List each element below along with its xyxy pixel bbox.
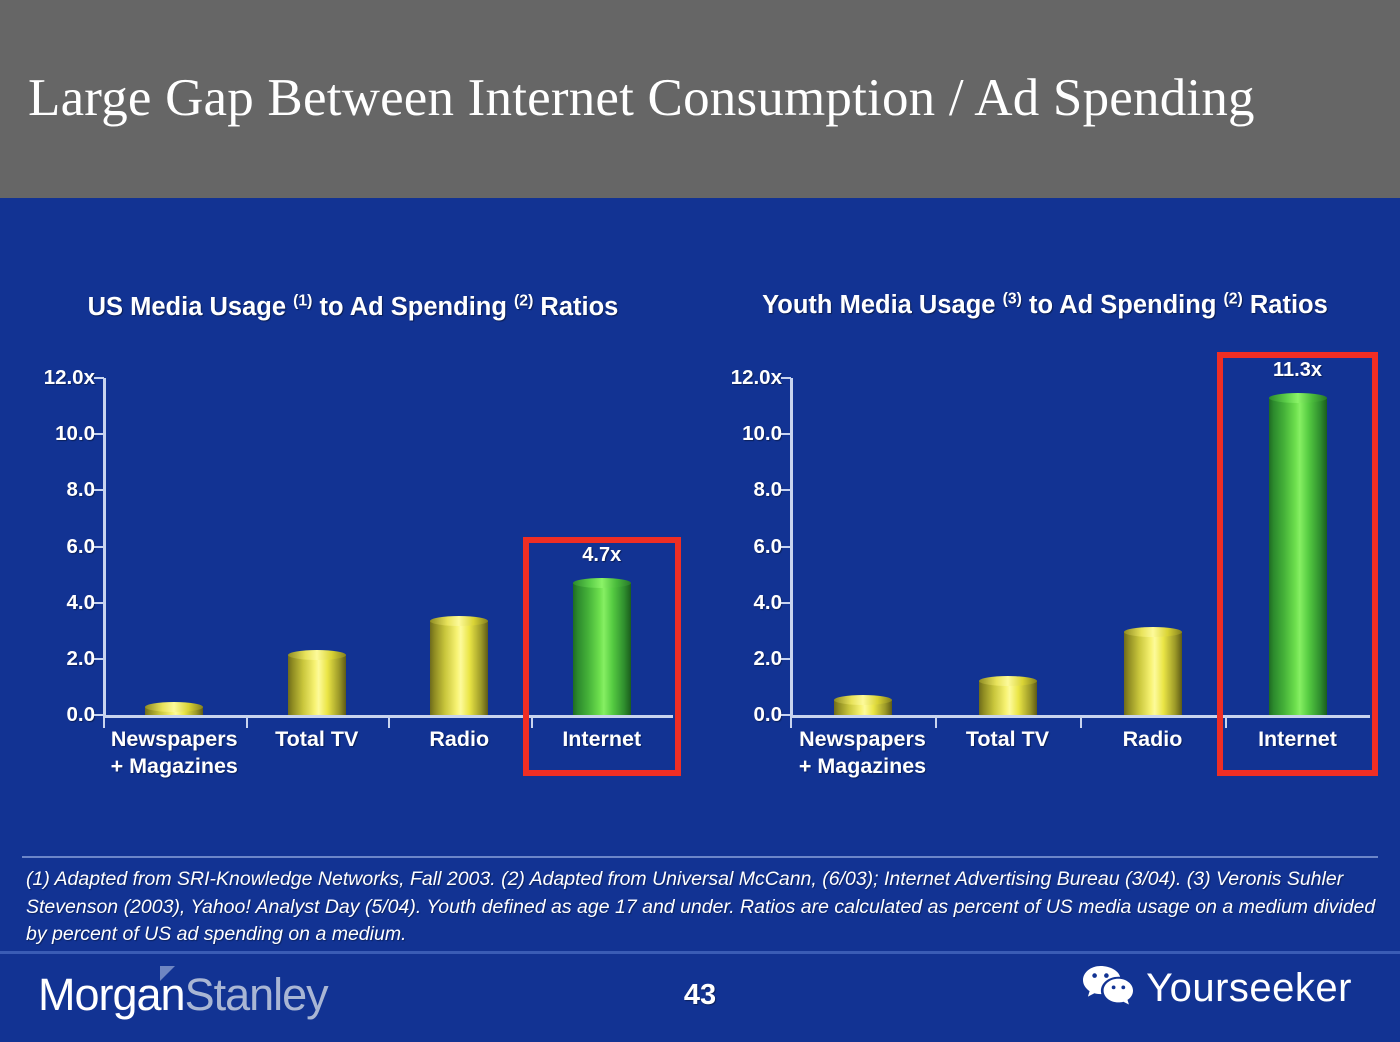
x-axis-category-labels: Newspapers + MagazinesTotal TVRadioInter…: [103, 726, 673, 806]
x-axis-label-3: Radio: [1080, 726, 1225, 753]
bar-slot: [288, 378, 346, 715]
plot-area-us-media: 12.0x10.08.06.04.02.00.0 4.7x: [103, 378, 673, 718]
chart-title-segment-b: to Ad Spending: [312, 293, 514, 321]
chart-title-footnote-ref-1: (1): [293, 293, 312, 310]
y-axis-tick-label: 6.0: [15, 535, 95, 559]
x-axis-label-1: Newspapers + Magazines: [103, 726, 246, 780]
chart-title-segment-a: Youth Media Usage: [762, 291, 1002, 319]
bar-cap: [430, 616, 488, 626]
bar-body: [1269, 398, 1327, 715]
bar-cap: [834, 695, 892, 705]
chart-title-us-media: US Media Usage (1) to Ad Spending (2) Ra…: [8, 290, 698, 324]
bar-cap: [1269, 393, 1327, 403]
bar-1: [834, 700, 892, 715]
footnote-divider: [22, 856, 1378, 858]
y-axis-tick-label: 2.0: [15, 647, 95, 671]
brand-watermark: Yourseeker: [1082, 964, 1352, 1011]
y-axis-tick-label: 8.0: [702, 478, 782, 502]
chart-title-footnote-ref-3: (3): [1003, 291, 1022, 308]
bar-body: [1124, 632, 1182, 715]
bar-value-label: 11.3x: [1239, 359, 1357, 382]
bar-slot: [145, 378, 203, 715]
bar-slot: [1124, 378, 1182, 715]
chart-title-segment-b: to Ad Spending: [1022, 291, 1224, 319]
chart-title-youth-media: Youth Media Usage (3) to Ad Spending (2)…: [700, 288, 1390, 322]
y-axis-tick-label: 10.0: [15, 422, 95, 446]
bar-slot: 11.3x: [1269, 378, 1327, 715]
plot-area-youth-media: 12.0x10.08.06.04.02.00.0 11.3x: [790, 378, 1370, 718]
footnotes: (1) Adapted from SRI-Knowledge Networks,…: [26, 866, 1378, 949]
y-axis-tick-label: 4.0: [702, 591, 782, 615]
bar-series: 11.3x: [790, 378, 1370, 715]
x-axis-label-2: Total TV: [246, 726, 389, 753]
chart-title-footnote-ref-2: (2): [1223, 291, 1242, 308]
bar-body: [288, 655, 346, 715]
bar-slot: [430, 378, 488, 715]
wechat-icon: [1082, 964, 1134, 1011]
chart-panel-us-media: US Media Usage (1) to Ad Spending (2) Ra…: [8, 198, 698, 850]
x-axis-label-3: Radio: [388, 726, 531, 753]
y-axis-tick-label: 12.0x: [15, 366, 95, 390]
bar-body: [573, 583, 631, 715]
bar-cap: [145, 702, 203, 712]
chart-title-segment-a: US Media Usage: [88, 293, 293, 321]
brand-name: Yourseeker: [1146, 968, 1352, 1008]
bar-slot: 4.7x: [573, 378, 631, 715]
chart-title-footnote-ref-2: (2): [514, 293, 533, 310]
x-axis-label-2: Total TV: [935, 726, 1080, 753]
bar-3: [430, 621, 488, 715]
bar-series: 4.7x: [103, 378, 673, 715]
bar-4: [1269, 398, 1327, 715]
y-axis-tick-label: 12.0x: [702, 366, 782, 390]
bar-cap: [288, 650, 346, 660]
y-axis-tick-label: 2.0: [702, 647, 782, 671]
chart-title-segment-c: Ratios: [533, 293, 618, 321]
bar-3: [1124, 632, 1182, 715]
chart-title-segment-c: Ratios: [1243, 291, 1328, 319]
y-axis-tick-label: 0.0: [702, 703, 782, 727]
bar-1: [145, 707, 203, 715]
bar-slot: [979, 378, 1037, 715]
y-axis-tick-label: 6.0: [702, 535, 782, 559]
slide-body: US Media Usage (1) to Ad Spending (2) Ra…: [0, 198, 1400, 850]
x-axis-label-1: Newspapers + Magazines: [790, 726, 935, 780]
slide-footer: MorganStanley 43 Yourseeker: [0, 954, 1400, 1042]
bar-body: [430, 621, 488, 715]
chart-panel-youth-media: Youth Media Usage (3) to Ad Spending (2)…: [700, 198, 1390, 850]
x-axis-label-4: Internet: [1225, 726, 1370, 753]
bar-4: [573, 583, 631, 715]
bar-value-label: 4.7x: [543, 544, 661, 567]
y-axis-tick-label: 8.0: [15, 478, 95, 502]
y-axis-tick-label: 0.0: [15, 703, 95, 727]
bar-2: [288, 655, 346, 715]
slide-header: Large Gap Between Internet Consumption /…: [0, 0, 1400, 198]
x-axis-label-4: Internet: [531, 726, 674, 753]
bar-cap: [573, 578, 631, 588]
y-axis-tick-label: 4.0: [15, 591, 95, 615]
y-axis-tick-label: 10.0: [702, 422, 782, 446]
x-axis-category-labels: Newspapers + MagazinesTotal TVRadioInter…: [790, 726, 1370, 806]
bar-body: [979, 681, 1037, 715]
bar-2: [979, 681, 1037, 715]
page-title: Large Gap Between Internet Consumption /…: [0, 71, 1255, 127]
bar-slot: [834, 378, 892, 715]
